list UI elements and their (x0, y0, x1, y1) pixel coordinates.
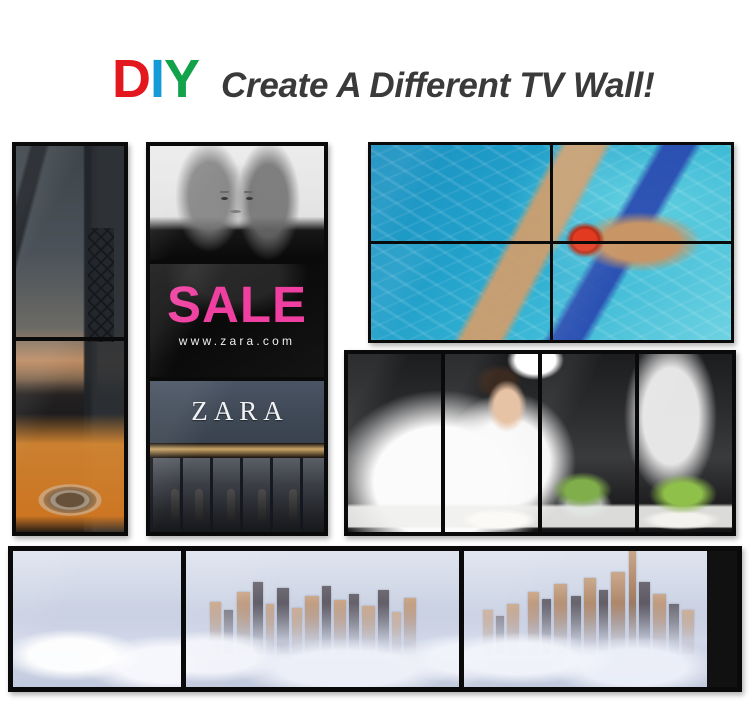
fashion-model-photo (150, 146, 324, 260)
bridge-scene-slice (16, 341, 124, 532)
mannequin-figure (195, 489, 203, 523)
store-window-glass (150, 458, 324, 532)
chef-video-wall (344, 350, 736, 536)
swimmer-scene-slice (371, 244, 550, 340)
video-wall-panel (464, 551, 737, 687)
diy-logo: DIY (112, 52, 199, 106)
video-wall-panel (16, 341, 124, 532)
video-wall-panel (348, 354, 441, 532)
diy-letter-i: I (150, 49, 164, 109)
mannequin-figure (171, 489, 179, 523)
swimmer-scene-slice (553, 145, 732, 241)
video-wall-panel (371, 145, 550, 241)
chef-scene-slice (542, 354, 635, 532)
video-wall-panel: SALE www.zara.com (150, 264, 324, 378)
diy-tv-wall-poster: DIY Create A Different TV Wall! (0, 0, 750, 702)
zara-video-wall: SALE www.zara.com ZARA (146, 142, 328, 536)
bridge-truss-icon (88, 228, 114, 337)
zara-store-sign: ZARA (150, 381, 324, 443)
sale-headline: SALE (150, 279, 324, 330)
city-scene-slice (186, 551, 459, 687)
eye-detail (246, 197, 253, 200)
video-wall-panel: ZARA (150, 381, 324, 532)
video-wall-panel (639, 354, 732, 532)
cloud-layer (464, 603, 707, 687)
mannequin-figure (227, 489, 235, 523)
mannequin-figure (258, 489, 266, 523)
chef-scene-slice (445, 354, 538, 532)
bridge-scene-slice (16, 146, 124, 337)
diy-letter-y: Y (164, 49, 199, 109)
cloud-layer (13, 603, 181, 687)
video-wall-panel (16, 146, 124, 337)
video-wall-panel (553, 145, 732, 241)
swimmer-video-wall (368, 142, 734, 343)
zara-sign-text: ZARA (185, 396, 289, 427)
bridge-video-wall (12, 142, 128, 536)
chef-scene-slice (639, 354, 732, 532)
eye-detail (221, 197, 228, 200)
page-title: DIY Create A Different TV Wall! (112, 52, 654, 106)
swimmer-scene-slice (553, 244, 732, 340)
chef-scene-slice (348, 354, 441, 532)
city-scene-slice (13, 551, 181, 687)
diy-letter-d: D (112, 49, 150, 109)
video-wall-panel (542, 354, 635, 532)
brow-detail (244, 191, 253, 193)
bridge-truss-icon (88, 341, 114, 342)
mannequin-figure (289, 489, 297, 523)
zara-url: www.zara.com (150, 334, 324, 348)
zara-sale-ad: SALE www.zara.com (150, 264, 324, 378)
video-wall-panel (186, 551, 459, 687)
lips-detail (230, 210, 241, 213)
video-wall-panel (553, 244, 732, 340)
zara-storefront-photo: ZARA (150, 381, 324, 532)
video-wall-panel (150, 146, 324, 260)
city-scene-slice (464, 551, 707, 687)
tagline: Create A Different TV Wall! (221, 68, 654, 103)
brow-detail (220, 191, 229, 193)
video-wall-panel (13, 551, 181, 687)
cloud-layer (186, 603, 459, 687)
city-video-wall (8, 546, 742, 692)
video-wall-panel (445, 354, 538, 532)
video-wall-panel (371, 244, 550, 340)
swimmer-scene-slice (371, 145, 550, 241)
store-awning (150, 443, 324, 458)
